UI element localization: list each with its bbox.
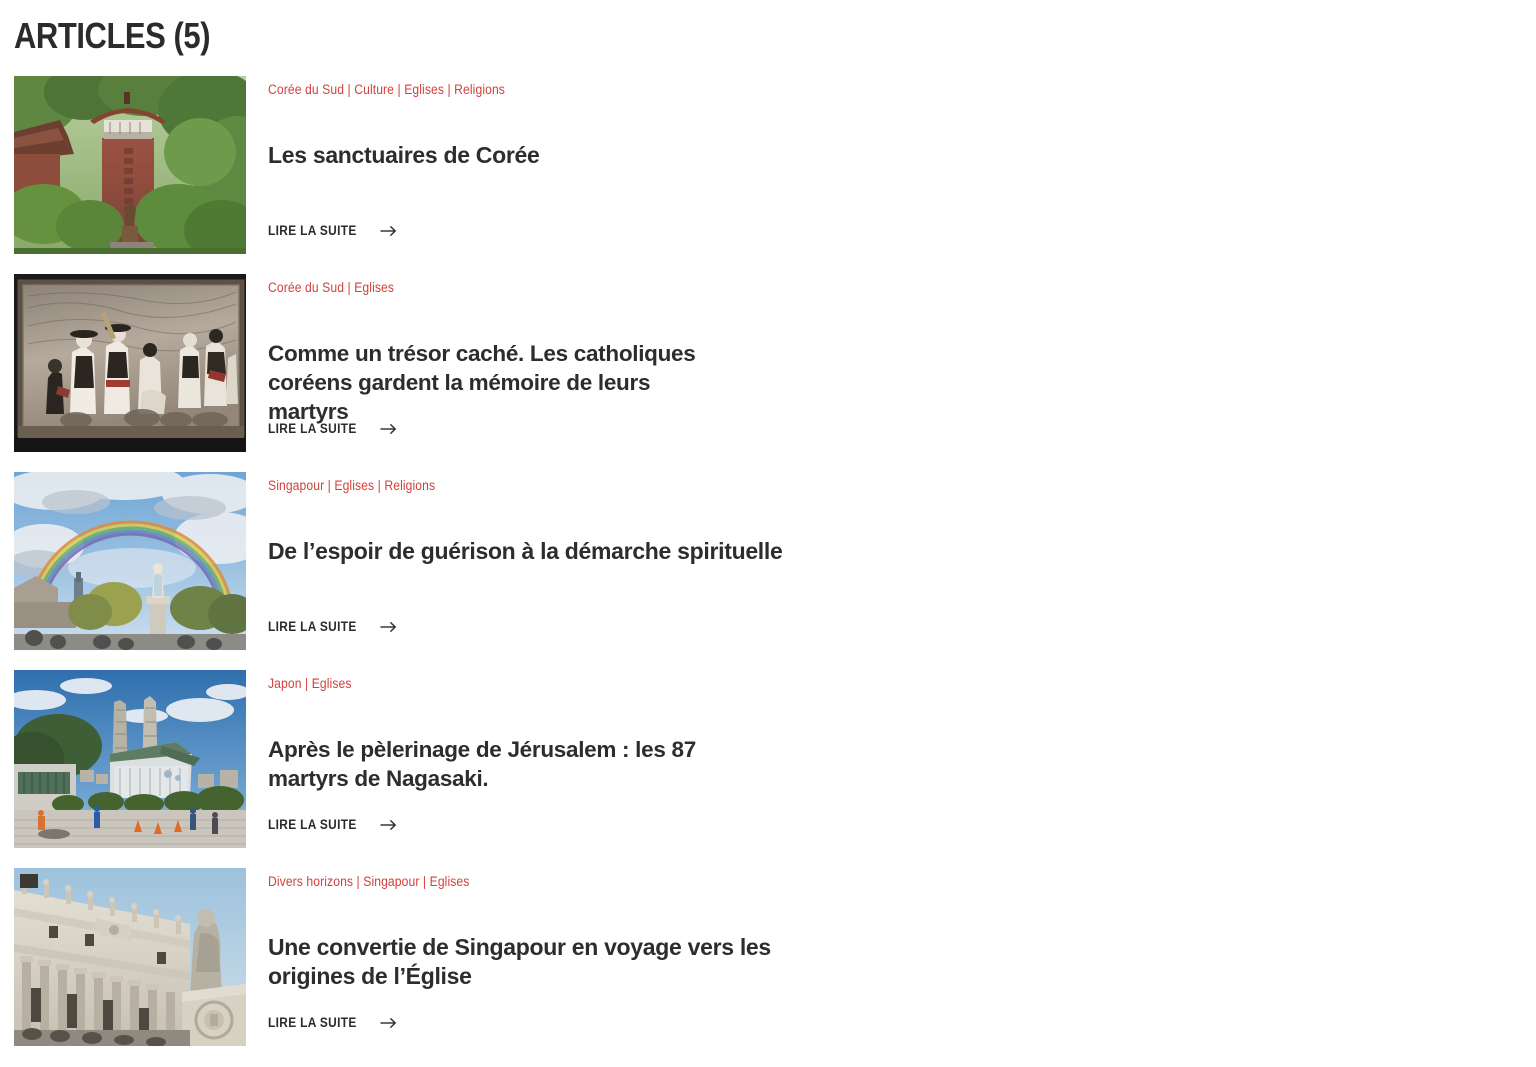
arrow-right-icon bbox=[380, 621, 397, 633]
read-more-link[interactable]: LIRE LA SUITE bbox=[268, 817, 397, 832]
articles-grid: Corée du Sud | Culture | Eglises | Relig… bbox=[14, 76, 1522, 1067]
article-body: Divers horizons | Singapour | Eglises Un… bbox=[246, 868, 824, 1046]
article-headline[interactable]: Comme un trésor caché. Les catholiques c… bbox=[268, 295, 726, 426]
read-more-link[interactable]: LIRE LA SUITE bbox=[268, 223, 397, 238]
article-card[interactable]: Divers horizons | Singapour | Eglises Un… bbox=[14, 868, 824, 1046]
read-more-label: LIRE LA SUITE bbox=[268, 223, 357, 238]
article-headline[interactable]: De l’espoir de guérison à la démarche sp… bbox=[268, 493, 824, 566]
article-categories[interactable]: Singapour | Eglises | Religions bbox=[268, 472, 768, 493]
article-body: Japon | Eglises Après le pèlerinage de J… bbox=[246, 670, 726, 848]
article-thumbnail[interactable] bbox=[14, 670, 246, 848]
article-body: Corée du Sud | Eglises Comme un trésor c… bbox=[246, 274, 726, 452]
page-title: ARTICLES (5) bbox=[14, 0, 1311, 76]
article-card[interactable]: Singapour | Eglises | Religions De l’esp… bbox=[14, 472, 824, 650]
article-categories[interactable]: Japon | Eglises bbox=[268, 670, 680, 691]
korean-martyrs-mural-painting-photo bbox=[14, 274, 246, 452]
arrow-right-icon bbox=[380, 225, 397, 237]
article-categories[interactable]: Corée du Sud | Culture | Eglises | Relig… bbox=[268, 76, 768, 97]
article-categories[interactable]: Corée du Sud | Eglises bbox=[268, 274, 680, 295]
read-more-link[interactable]: LIRE LA SUITE bbox=[268, 421, 397, 436]
read-more-label: LIRE LA SUITE bbox=[268, 421, 357, 436]
article-thumbnail[interactable] bbox=[14, 472, 246, 650]
article-categories[interactable]: Divers horizons | Singapour | Eglises bbox=[268, 868, 768, 889]
arrow-right-icon bbox=[380, 819, 397, 831]
article-thumbnail[interactable] bbox=[14, 868, 246, 1046]
korean-shrine-pagoda-photo bbox=[14, 76, 246, 254]
article-headline[interactable]: Après le pèlerinage de Jérusalem : les 8… bbox=[268, 691, 726, 793]
arrow-right-icon bbox=[380, 1017, 397, 1029]
read-more-label: LIRE LA SUITE bbox=[268, 817, 357, 832]
article-thumbnail[interactable] bbox=[14, 76, 246, 254]
article-card[interactable]: Corée du Sud | Eglises Comme un trésor c… bbox=[14, 274, 726, 452]
st-peters-basilica-facade-statue-photo bbox=[14, 868, 246, 1046]
article-thumbnail[interactable] bbox=[14, 274, 246, 452]
read-more-link[interactable]: LIRE LA SUITE bbox=[268, 619, 397, 634]
arrow-right-icon bbox=[380, 423, 397, 435]
article-card[interactable]: Japon | Eglises Après le pèlerinage de J… bbox=[14, 670, 726, 848]
rainbow-over-lourdes-marian-statue-photo bbox=[14, 472, 246, 650]
article-body: Singapour | Eglises | Religions De l’esp… bbox=[246, 472, 824, 650]
read-more-link[interactable]: LIRE LA SUITE bbox=[268, 1015, 397, 1030]
nagasaki-martyrs-memorial-church-photo bbox=[14, 670, 246, 848]
article-headline[interactable]: Les sanctuaires de Corée bbox=[268, 97, 824, 170]
read-more-label: LIRE LA SUITE bbox=[268, 619, 357, 634]
article-card[interactable]: Corée du Sud | Culture | Eglises | Relig… bbox=[14, 76, 824, 254]
read-more-label: LIRE LA SUITE bbox=[268, 1015, 357, 1030]
article-headline[interactable]: Une convertie de Singapour en voyage ver… bbox=[268, 889, 824, 991]
article-body: Corée du Sud | Culture | Eglises | Relig… bbox=[246, 76, 824, 254]
articles-page: ARTICLES (5) bbox=[0, 0, 1536, 1067]
